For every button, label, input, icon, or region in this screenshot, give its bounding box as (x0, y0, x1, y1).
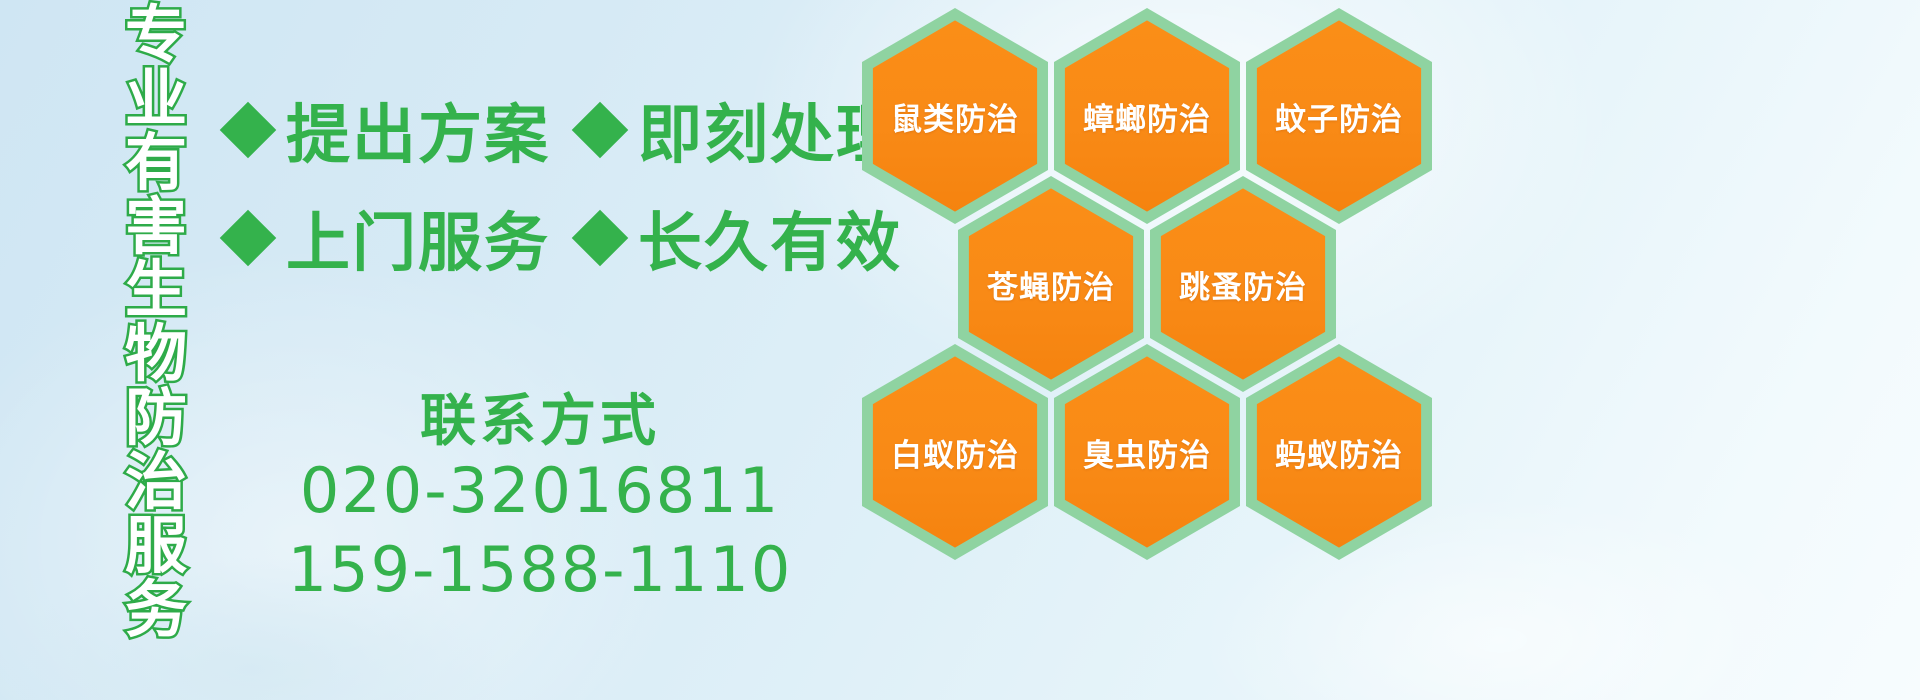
banner-root: 专业有害生物防治服务 提出方案 即刻处理 上门服务 长久有效 联系方式 020-… (0, 0, 1920, 700)
diamond-icon (572, 210, 629, 267)
contact-phone-mobile[interactable]: 159-1588-1110 (230, 530, 850, 609)
vertical-headline: 专业有害生物防治服务 (108, 4, 204, 643)
diamond-icon (220, 210, 277, 267)
contact-title: 联系方式 (230, 392, 850, 451)
hex-cell-termite-control[interactable]: 白蚁防治 (862, 344, 1048, 560)
hex-label: 臭虫防治 (1054, 344, 1240, 560)
feature-item-immediate-handling: 即刻处理 (580, 84, 902, 176)
hex-cell-ant-control[interactable]: 蚂蚁防治 (1246, 344, 1432, 560)
feature-item-onsite-service: 上门服务 (228, 192, 580, 284)
feature-item-long-lasting: 长久有效 (580, 192, 902, 284)
hex-cell-bedbug-control[interactable]: 臭虫防治 (1054, 344, 1240, 560)
hex-label: 白蚁防治 (862, 344, 1048, 560)
diamond-icon (220, 102, 277, 159)
feature-label: 上门服务 (286, 192, 550, 284)
hex-label: 蚂蚁防治 (1246, 344, 1432, 560)
diamond-icon (572, 102, 629, 159)
service-hex-grid: 鼠类防治 蟑螂防治 蚊子防治 苍蝇防治 跳蚤防治 白蚁防治 (858, 0, 1458, 580)
contact-phone-landline[interactable]: 020-32016811 (230, 451, 850, 530)
feature-label: 提出方案 (286, 84, 550, 176)
feature-row-2: 上门服务 长久有效 (228, 192, 902, 284)
feature-item-propose-plan: 提出方案 (228, 84, 580, 176)
feature-row-1: 提出方案 即刻处理 (228, 84, 902, 176)
contact-block: 联系方式 020-32016811 159-1588-1110 (230, 392, 850, 610)
